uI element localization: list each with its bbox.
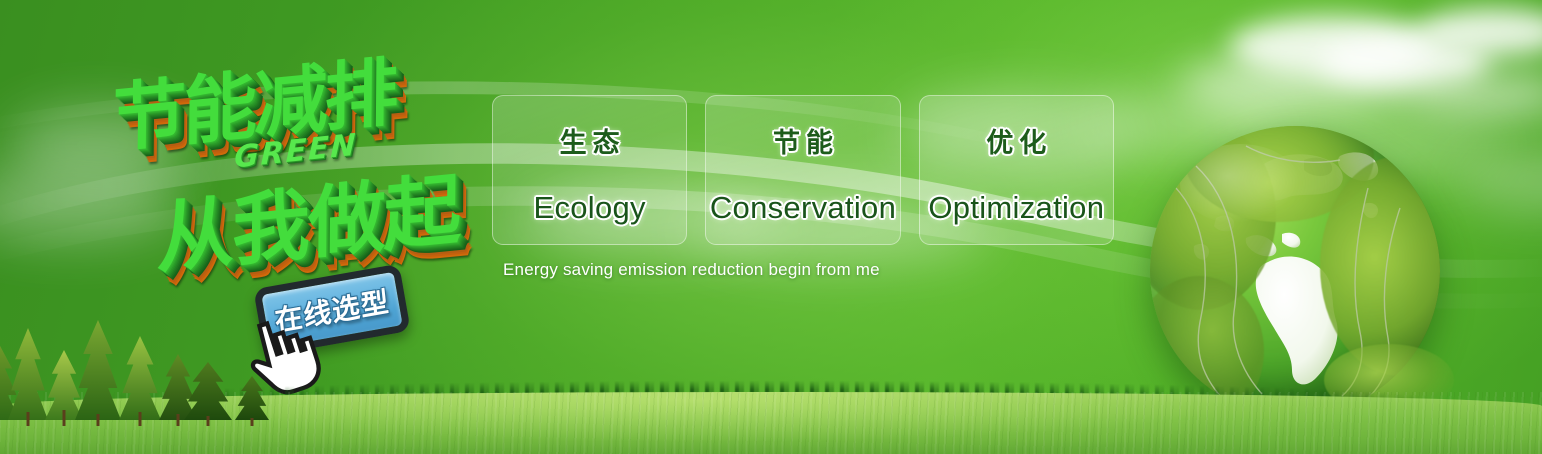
feature-card-conservation-en: Conservation (710, 190, 896, 226)
headline-line3: 从我做起 (156, 147, 460, 289)
globe-highlight (1180, 144, 1300, 224)
feature-card-conservation-cn: 节能 (767, 121, 839, 160)
headline-3d-art: 节能减排 GREEN 从我做起 (96, 36, 496, 266)
eco-banner: 节能减排 GREEN 从我做起 生态 Ecology 节能 Conservati… (0, 0, 1542, 454)
feature-card-optimization-cn: 优化 (980, 121, 1052, 160)
feature-card-optimization-en: Optimization (928, 190, 1104, 226)
feature-card-ecology[interactable]: 生态 Ecology (492, 95, 687, 245)
feature-card-conservation[interactable]: 节能 Conservation (705, 95, 900, 245)
feature-cards: 生态 Ecology 节能 Conservation 优化 Optimizati… (492, 95, 1114, 245)
conifer-trees-icon (0, 316, 324, 426)
feature-card-optimization[interactable]: 优化 Optimization (919, 95, 1114, 245)
tagline: Energy saving emission reduction begin f… (503, 260, 880, 280)
feature-card-ecology-cn: 生态 (554, 121, 626, 160)
feature-card-ecology-en: Ecology (533, 190, 645, 226)
